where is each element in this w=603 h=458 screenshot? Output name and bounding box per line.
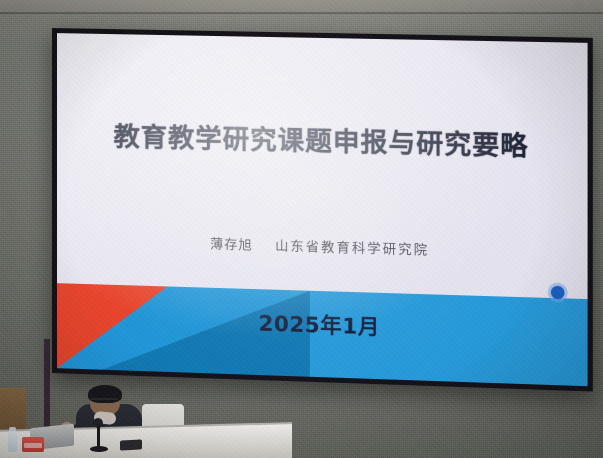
photo-scene: 教育教学研究课题申报与研究要略 薄存旭山东省教育科学研究院 2025年1月 bbox=[0, 0, 603, 458]
photo-vignette bbox=[0, 0, 603, 458]
